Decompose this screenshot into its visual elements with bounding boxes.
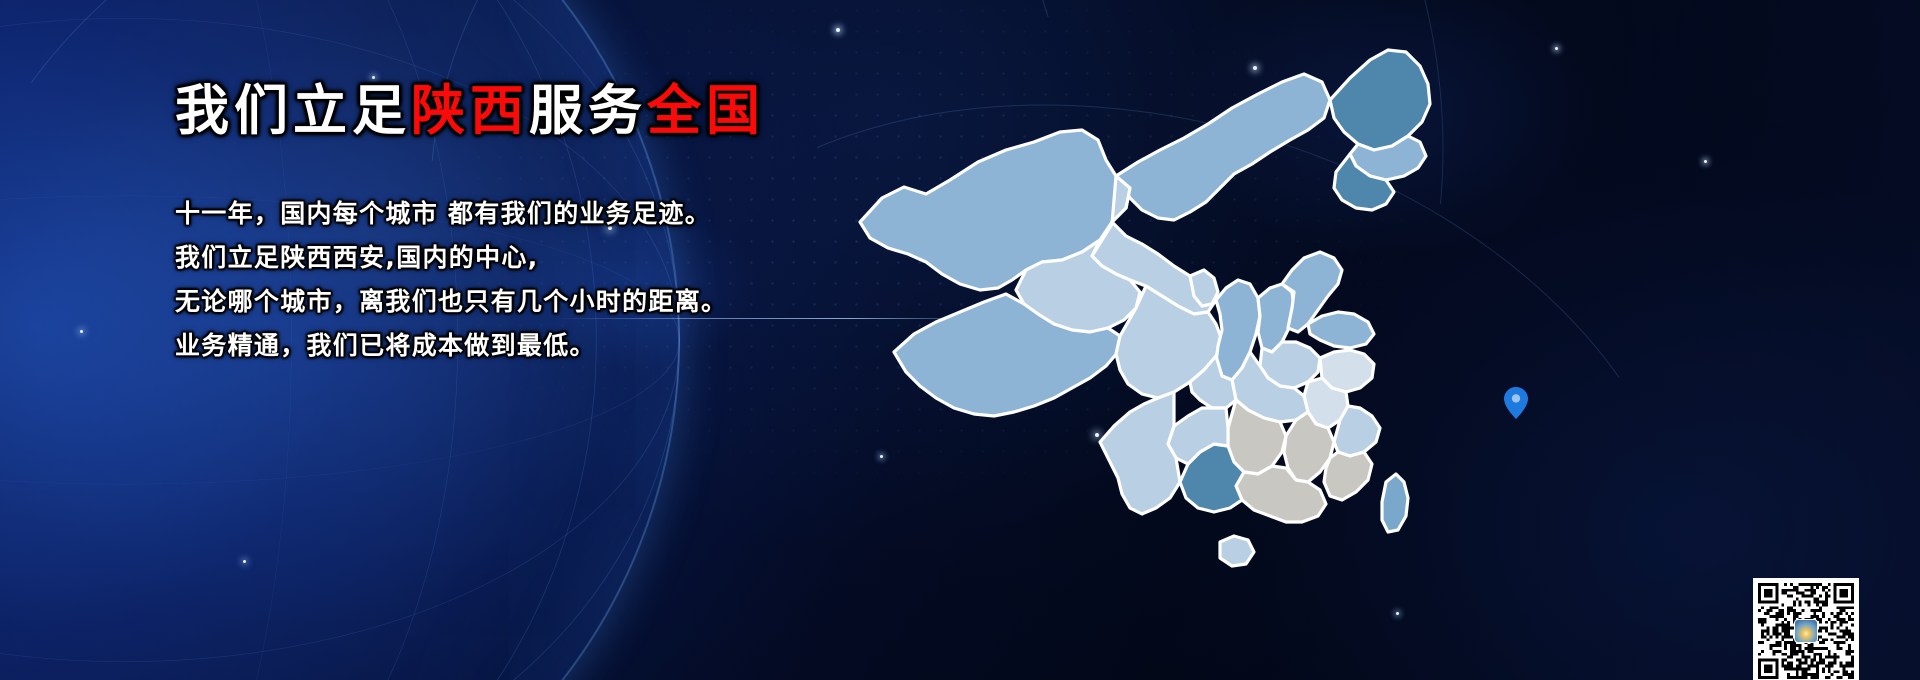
province-yunnan [1100,392,1180,514]
province-hainan [1220,536,1254,566]
province-taiwan [1382,474,1408,532]
province-shandong [1308,312,1374,348]
body-line: 无论哪个城市，离我们也只有几个小时的距离。 [175,280,875,324]
province-fujian [1324,452,1372,500]
headline-segment-2: 陕西 [411,79,529,142]
body-line: 我们立足陕西西安,国内的中心, [175,236,875,280]
body-copy: 十一年，国内每个城市 都有我们的业务足迹。 我们立足陕西西安,国内的中心, 无论… [175,192,875,368]
copy-block: 我们立足陕西服务全国 十一年，国内每个城市 都有我们的业务足迹。 我们立足陕西西… [175,82,875,368]
qr-logo-icon [1794,619,1818,643]
star-dot [80,330,83,333]
qr-code[interactable] [1753,578,1859,680]
body-line: 十一年，国内每个城市 都有我们的业务足迹。 [175,192,875,236]
page-title: 我们立足陕西服务全国 [175,82,875,140]
map-provinces [860,50,1430,566]
star-dot [1704,160,1707,163]
china-map-container [830,12,1530,672]
headline-segment-1: 我们立足 [175,79,411,142]
headline-segment-3: 服务 [529,79,647,142]
province-inner-mongolia [1116,74,1330,220]
map-location-pin[interactable] [1504,387,1528,419]
province-heilongjiang [1330,50,1430,150]
star-dot [243,560,246,563]
china-map [830,12,1530,672]
body-line: 业务精通，我们已将成本做到最低。 [175,324,875,368]
hero-banner: 我们立足陕西服务全国 十一年，国内每个城市 都有我们的业务足迹。 我们立足陕西西… [0,0,1920,680]
headline-segment-4: 全国 [647,79,765,142]
star-dot [1555,47,1558,50]
